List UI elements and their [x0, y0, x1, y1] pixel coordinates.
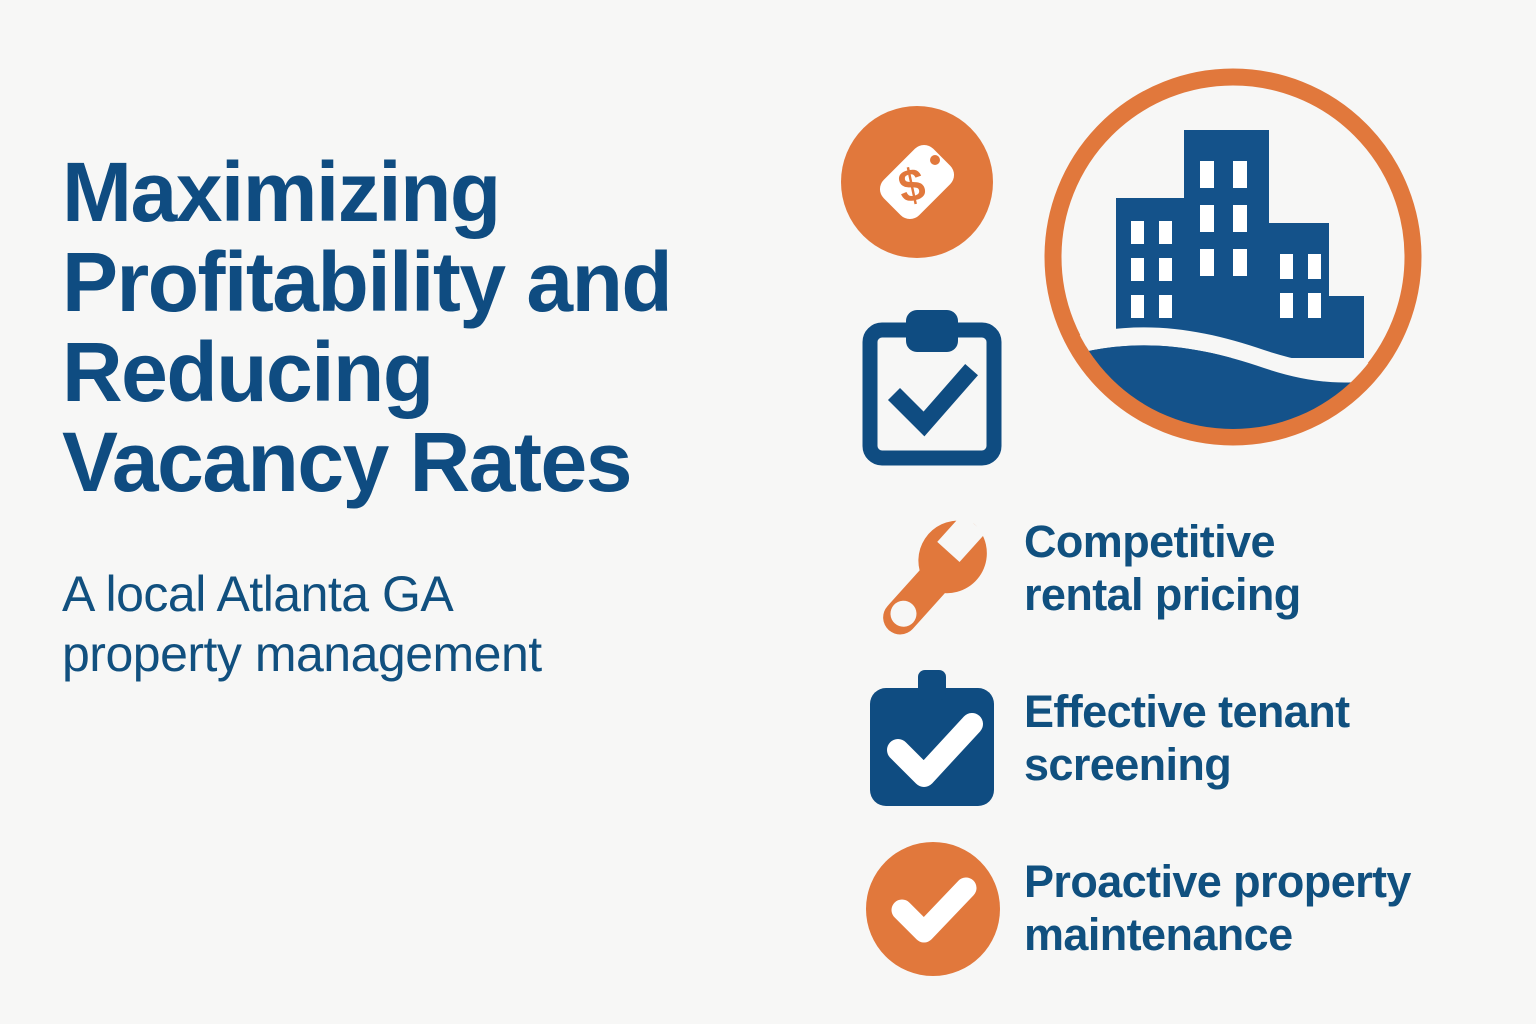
list-item: Effective tenant screening: [858, 654, 1518, 824]
circle-check-icon: [858, 834, 1024, 984]
feature-list: Competitive rental pricing Effective ten…: [858, 484, 1518, 994]
page-title: Maximizing Profitability and Reducing Va…: [62, 148, 822, 508]
list-item: Competitive rental pricing: [858, 484, 1518, 654]
infographic-canvas: Maximizing Profitability and Reducing Va…: [0, 0, 1536, 1024]
list-item: Proactive property maintenance: [858, 824, 1518, 994]
page-subtitle: A local Atlanta GA property management: [62, 508, 822, 684]
clipboard-check-filled-icon: [858, 664, 1024, 814]
price-tag-icon: $: [838, 103, 996, 261]
wrench-icon: [858, 494, 1024, 644]
city-skyline-logo: [1034, 58, 1432, 456]
list-item-label: Effective tenant screening: [1024, 686, 1349, 791]
text-column: Maximizing Profitability and Reducing Va…: [62, 148, 822, 684]
clipboard-check-outline-icon: [862, 308, 1002, 466]
list-item-label: Proactive property maintenance: [1024, 856, 1411, 961]
list-item-label: Competitive rental pricing: [1024, 516, 1301, 621]
